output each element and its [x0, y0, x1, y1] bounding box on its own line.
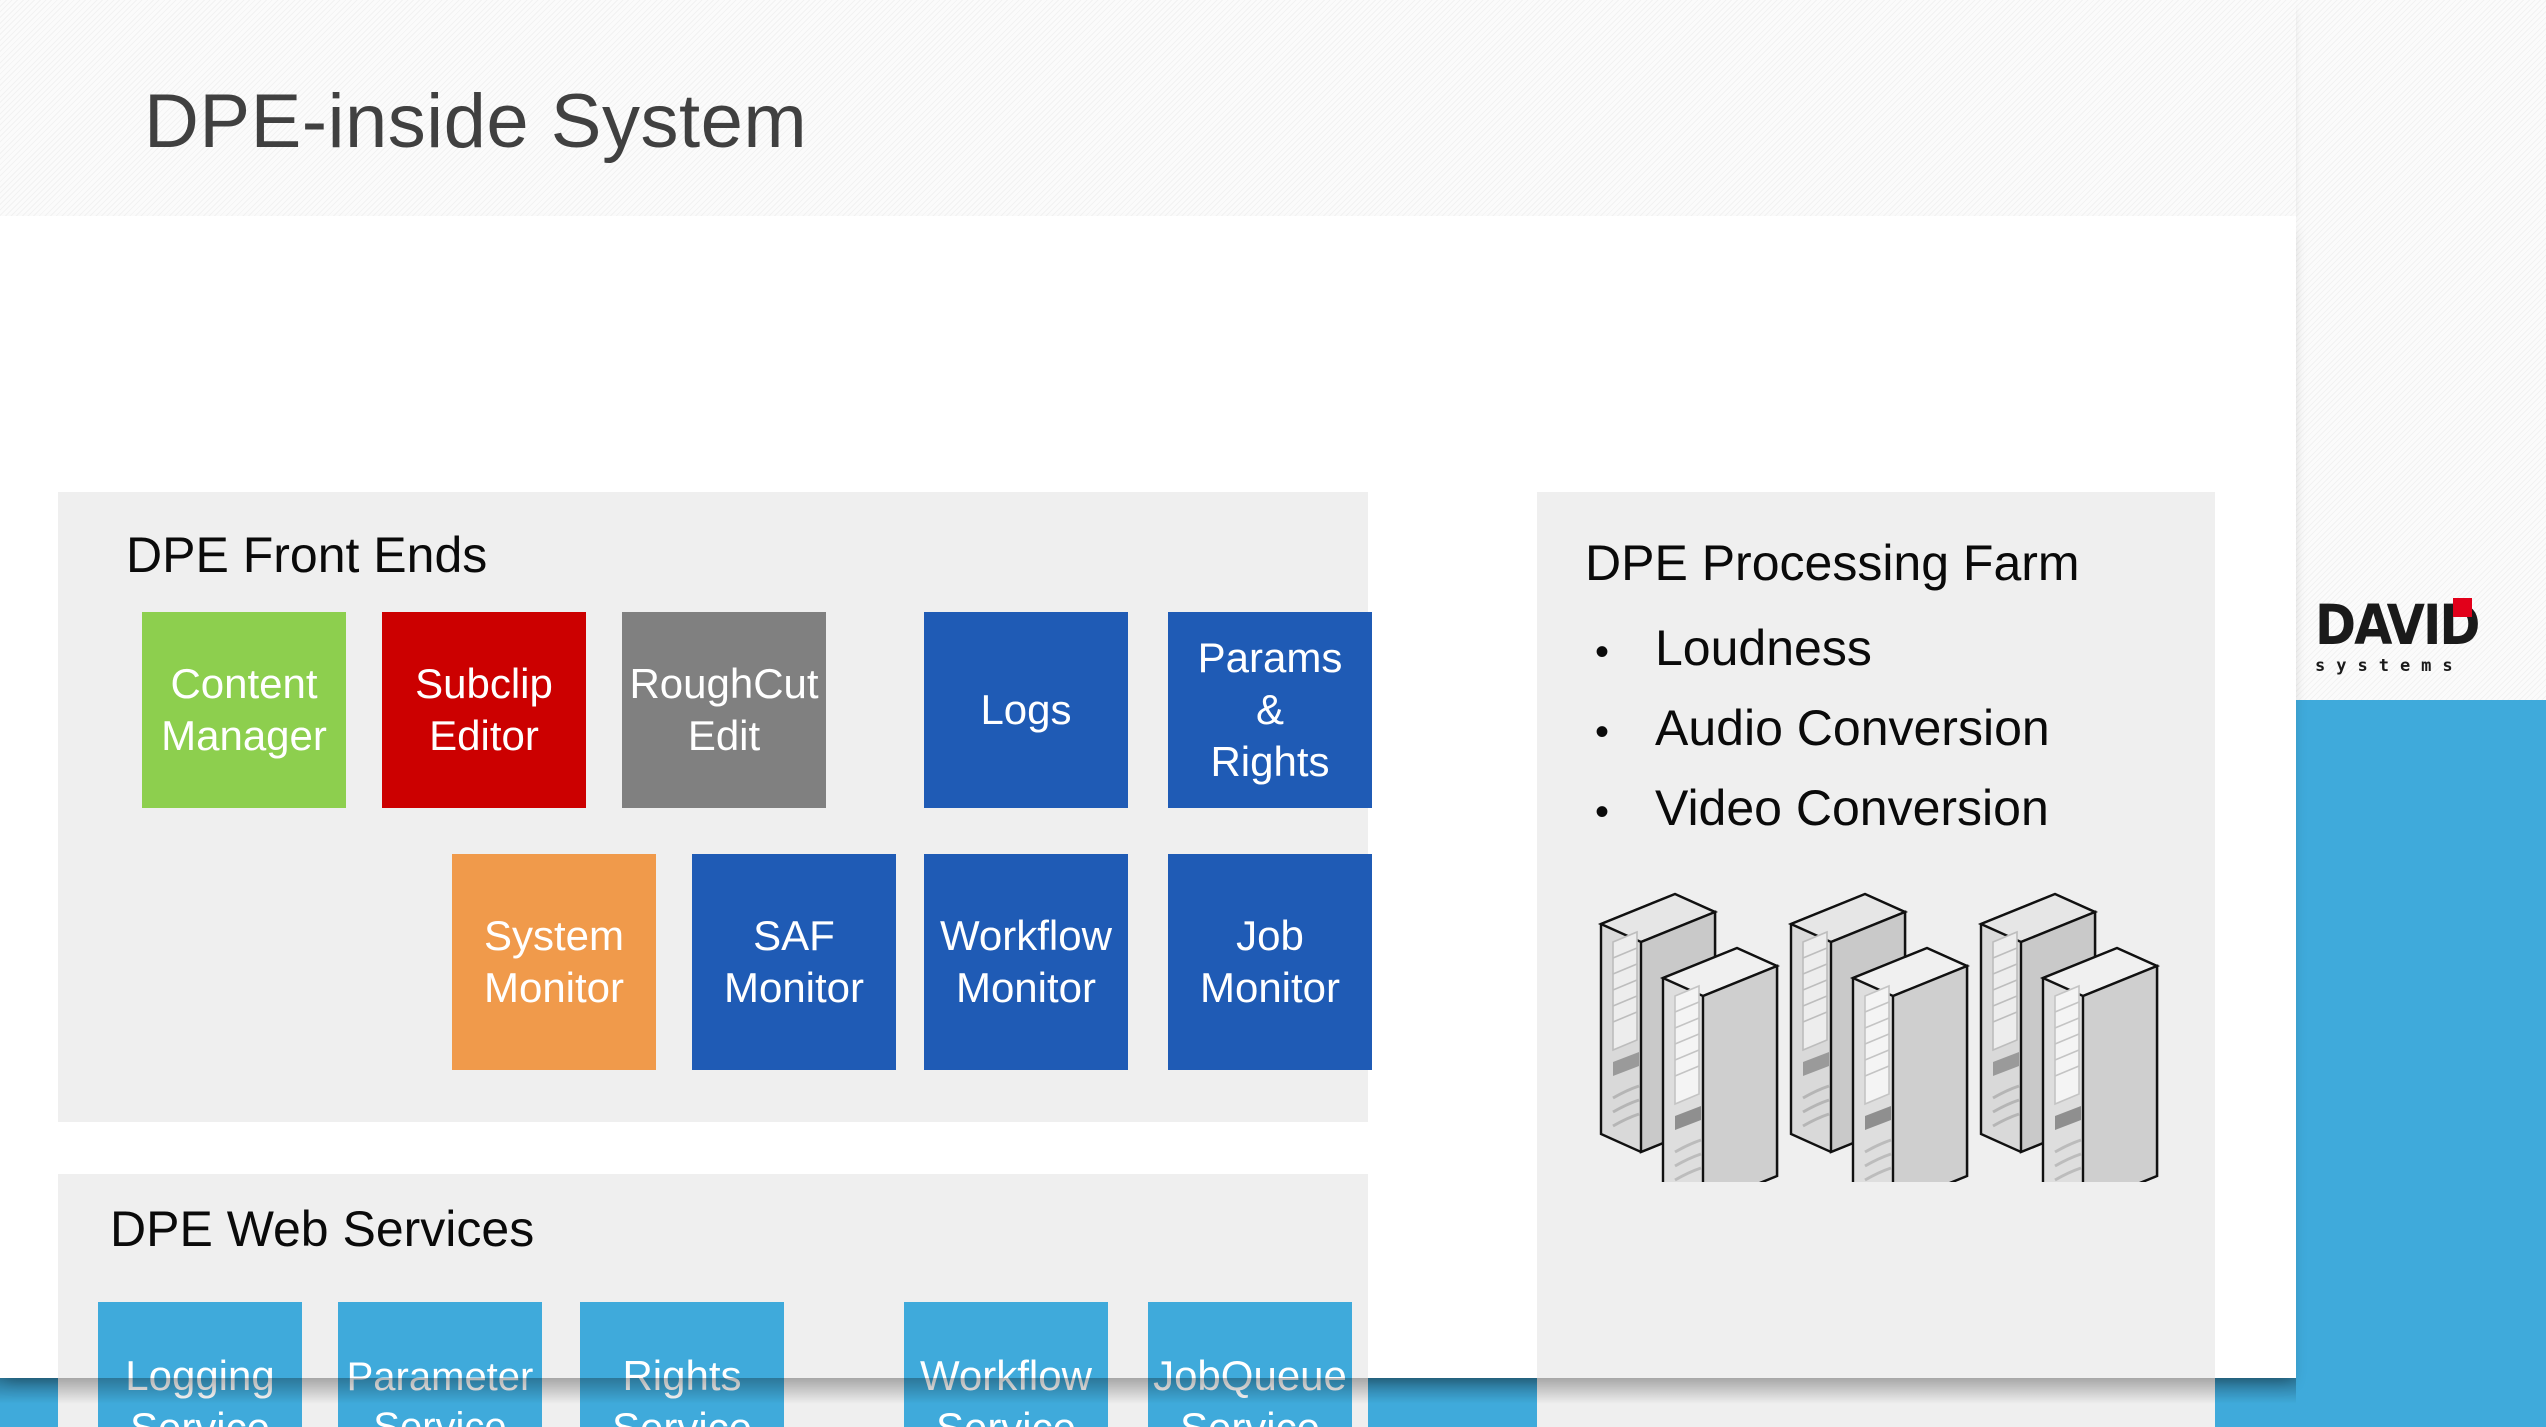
tile-params-rights[interactable]: Params & Rights [1168, 612, 1372, 808]
david-systems-logo: DAVID systems [2315, 596, 2529, 688]
panel-title-web-services: DPE Web Services [110, 1200, 534, 1258]
farm-bullet-loudness: •Loudness [1585, 610, 2185, 690]
content-card: DPE Front Ends Content ManagerSubclip Ed… [0, 216, 2296, 1378]
tile-workflow-monitor[interactable]: Workflow Monitor [924, 854, 1128, 1070]
tile-rights-service[interactable]: Rights Service [580, 1302, 784, 1427]
tile-system-monitor[interactable]: System Monitor [452, 854, 656, 1070]
farm-bullet-label: Audio Conversion [1655, 690, 2050, 766]
tile-logs[interactable]: Logs [924, 612, 1128, 808]
processing-farm-bullet-list: •Loudness•Audio Conversion•Video Convers… [1585, 610, 2185, 850]
tile-job-monitor[interactable]: Job Monitor [1168, 854, 1372, 1070]
page-title: DPE-inside System [144, 78, 807, 165]
farm-bullet-audio-conversion: •Audio Conversion [1585, 690, 2185, 770]
bullet-dot-icon: • [1585, 694, 1655, 770]
right-accent-block [2296, 700, 2546, 1378]
tile-logging-service[interactable]: Logging Service [98, 1302, 302, 1427]
logo-wordmark: DAVID [2315, 596, 2529, 654]
farm-bullet-label: Video Conversion [1655, 770, 2049, 846]
panel-dpe-processing-farm: DPE Processing Farm •Loudness•Audio Conv… [1537, 492, 2215, 1427]
panel-dpe-web-services: DPE Web Services Logging ServiceParamete… [58, 1174, 1368, 1427]
more-services-ellipsis: ••• [828, 1422, 893, 1427]
tile-parameter-service[interactable]: Parameter Service [338, 1302, 542, 1427]
slide-root: DPE-inside System DPE Front Ends Content… [0, 0, 2546, 1427]
panel-dpe-front-ends: DPE Front Ends Content ManagerSubclip Ed… [58, 492, 1368, 1122]
title-band: DPE-inside System [0, 0, 2296, 216]
bullet-dot-icon: • [1585, 774, 1655, 850]
server-cluster-graphic [1597, 882, 2197, 1182]
farm-bullet-label: Loudness [1655, 610, 1872, 686]
logo-red-dot [2453, 598, 2472, 617]
tile-jobqueue-service[interactable]: JobQueue Service [1148, 1302, 1352, 1427]
farm-bullet-video-conversion: •Video Conversion [1585, 770, 2185, 850]
tile-workflow-service[interactable]: Workflow Service [904, 1302, 1108, 1427]
tile-saf-monitor[interactable]: SAF Monitor [692, 854, 896, 1070]
panel-title-processing-farm: DPE Processing Farm [1585, 534, 2080, 592]
panel-title-front-ends: DPE Front Ends [126, 526, 487, 584]
tile-subclip-editor[interactable]: Subclip Editor [382, 612, 586, 808]
bullet-dot-icon: • [1585, 614, 1655, 690]
tile-content-manager[interactable]: Content Manager [142, 612, 346, 808]
tile-roughcut-edit[interactable]: RoughCut Edit [622, 612, 826, 808]
logo-subtext: systems [2315, 656, 2529, 676]
